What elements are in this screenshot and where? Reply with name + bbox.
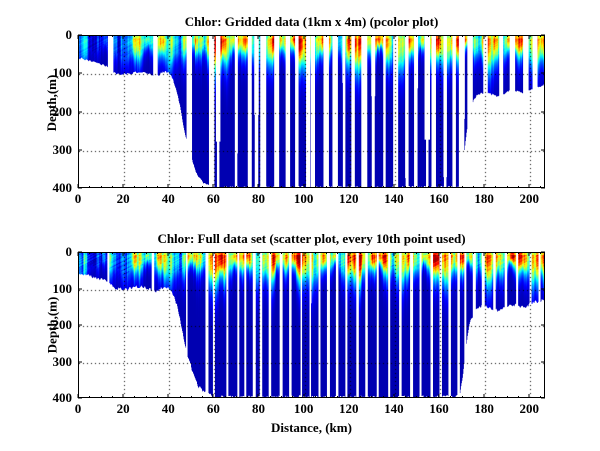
x-axis-tick [258, 394, 259, 398]
chart-panel-gridded: Chlor: Gridded data (1km x 4m) (pcolor p… [78, 35, 545, 188]
x-axis-minor-tick [462, 186, 463, 188]
x-axis-minor-tick [157, 396, 158, 398]
x-axis-tick-label: 200 [519, 401, 539, 417]
x-axis-tick [213, 35, 214, 39]
x-axis-minor-tick [383, 252, 384, 254]
x-axis-tick [258, 184, 259, 188]
y-axis-tick [78, 325, 82, 326]
x-axis-minor-tick [450, 186, 451, 188]
x-axis-minor-tick [101, 396, 102, 398]
x-axis-tick-label: 200 [519, 191, 539, 207]
x-axis-minor-tick [270, 186, 271, 188]
x-axis-tick [123, 394, 124, 398]
x-axis-minor-tick [134, 252, 135, 254]
x-axis-tick-label: 160 [429, 401, 449, 417]
figure-canvas: Chlor: Gridded data (1km x 4m) (pcolor p… [0, 0, 600, 451]
x-axis-minor-tick [236, 186, 237, 188]
x-axis-tick [348, 394, 349, 398]
x-axis-tick-label: 0 [75, 401, 82, 417]
x-axis-tick [484, 252, 485, 256]
x-axis-minor-tick [383, 396, 384, 398]
x-axis-minor-tick [134, 35, 135, 37]
x-axis-minor-tick [89, 396, 90, 398]
x-axis-minor-tick [507, 186, 508, 188]
y-axis-tick [78, 111, 82, 112]
x-axis-minor-tick [89, 252, 90, 254]
x-axis-tick [123, 184, 124, 188]
x-axis-minor-tick [326, 396, 327, 398]
grid-overlay [79, 253, 545, 398]
x-axis-minor-tick [157, 252, 158, 254]
x-axis-minor-tick [281, 35, 282, 37]
y-axis-tick [78, 252, 82, 253]
x-axis-minor-tick [202, 35, 203, 37]
x-axis-tick-label: 140 [384, 191, 404, 207]
x-axis-minor-tick [405, 186, 406, 188]
x-axis-tick [438, 35, 439, 39]
x-axis-minor-tick [518, 186, 519, 188]
x-axis-tick [393, 252, 394, 256]
x-axis-minor-tick [450, 396, 451, 398]
x-axis-minor-tick [202, 396, 203, 398]
x-axis-tick-label: 80 [252, 191, 265, 207]
x-axis-minor-tick [462, 35, 463, 37]
y-axis-label-gridded: Depth,(m) [44, 53, 60, 153]
y-axis-tick [541, 288, 545, 289]
x-axis-tick [168, 35, 169, 39]
x-axis-minor-tick [112, 35, 113, 37]
x-axis-minor-tick [191, 396, 192, 398]
x-axis-minor-tick [383, 35, 384, 37]
x-axis-tick-label: 60 [207, 191, 220, 207]
y-axis-tick [78, 188, 82, 189]
x-axis-minor-tick [89, 35, 90, 37]
y-axis-tick [541, 188, 545, 189]
x-axis-minor-tick [89, 186, 90, 188]
x-axis-tick [348, 35, 349, 39]
y-axis-tick [541, 111, 545, 112]
x-axis-tick [303, 252, 304, 256]
x-axis-minor-tick [191, 186, 192, 188]
y-axis-tick-label: 100 [53, 281, 73, 297]
x-axis-minor-tick [180, 396, 181, 398]
x-axis-tick-label: 60 [207, 401, 220, 417]
plot-area-gridded [78, 35, 545, 188]
y-axis-tick [78, 288, 82, 289]
x-axis-tick [484, 184, 485, 188]
x-axis-minor-tick [495, 186, 496, 188]
y-axis-tick-label: 300 [53, 354, 73, 370]
x-axis-minor-tick [371, 35, 372, 37]
x-axis-minor-tick [473, 252, 474, 254]
x-axis-minor-tick [405, 252, 406, 254]
x-axis-minor-tick [416, 186, 417, 188]
x-axis-minor-tick [371, 396, 372, 398]
x-axis-tick [123, 35, 124, 39]
x-axis-tick [168, 184, 169, 188]
x-axis-minor-tick [337, 252, 338, 254]
x-axis-minor-tick [326, 252, 327, 254]
x-axis-minor-tick [405, 396, 406, 398]
x-axis-tick-label: 20 [117, 401, 130, 417]
x-axis-minor-tick [292, 252, 293, 254]
x-axis-minor-tick [146, 252, 147, 254]
x-axis-minor-tick [360, 252, 361, 254]
x-axis-minor-tick [337, 35, 338, 37]
x-axis-minor-tick [112, 186, 113, 188]
x-axis-minor-tick [428, 396, 429, 398]
x-axis-tick [168, 252, 169, 256]
x-axis-minor-tick [236, 252, 237, 254]
x-axis-minor-tick [180, 35, 181, 37]
x-axis-minor-tick [360, 35, 361, 37]
x-axis-minor-tick [247, 252, 248, 254]
x-axis-minor-tick [315, 186, 316, 188]
x-axis-minor-tick [518, 396, 519, 398]
x-axis-minor-tick [281, 396, 282, 398]
x-axis-minor-tick [371, 252, 372, 254]
x-axis-tick [213, 184, 214, 188]
x-axis-tick-label: 40 [162, 191, 175, 207]
x-axis-tick-label: 160 [429, 191, 449, 207]
y-axis-label-scatter: Depth,(m) [44, 297, 60, 354]
y-axis-tick [78, 35, 82, 36]
x-axis-minor-tick [405, 35, 406, 37]
x-axis-minor-tick [495, 396, 496, 398]
y-axis-tick-label: 0 [66, 244, 73, 260]
x-axis-tick-label: 180 [474, 191, 494, 207]
x-axis-minor-tick [101, 186, 102, 188]
x-axis-minor-tick [371, 186, 372, 188]
y-axis-tick [541, 35, 545, 36]
x-axis-tick [348, 184, 349, 188]
x-axis-minor-tick [101, 252, 102, 254]
x-axis-minor-tick [247, 186, 248, 188]
x-axis-minor-tick [383, 186, 384, 188]
x-axis-tick-label: 100 [294, 191, 314, 207]
x-axis-minor-tick [495, 252, 496, 254]
x-axis-tick [213, 252, 214, 256]
x-axis-tick [438, 184, 439, 188]
x-axis-minor-tick [236, 35, 237, 37]
y-axis-tick [541, 149, 545, 150]
y-axis-tick [78, 149, 82, 150]
y-axis-tick [541, 398, 545, 399]
x-axis-minor-tick [180, 186, 181, 188]
x-axis-tick [393, 35, 394, 39]
x-axis-minor-tick [112, 252, 113, 254]
x-axis-tick [303, 35, 304, 39]
x-axis-minor-tick [191, 252, 192, 254]
x-axis-tick [529, 184, 530, 188]
x-axis-tick [168, 394, 169, 398]
x-axis-tick [123, 252, 124, 256]
x-axis-minor-tick [270, 252, 271, 254]
x-axis-minor-tick [462, 252, 463, 254]
y-axis-tick [541, 361, 545, 362]
x-axis-minor-tick [495, 35, 496, 37]
chart-title-gridded: Chlor: Gridded data (1km x 4m) (pcolor p… [78, 14, 545, 30]
x-axis-tick-label: 40 [162, 401, 175, 417]
x-axis-minor-tick [326, 186, 327, 188]
x-axis-tick-label: 120 [339, 191, 359, 207]
x-axis-minor-tick [247, 396, 248, 398]
x-axis-label-distance: Distance, (km) [78, 420, 545, 436]
x-axis-minor-tick [157, 186, 158, 188]
x-axis-minor-tick [360, 396, 361, 398]
x-axis-minor-tick [202, 186, 203, 188]
x-axis-minor-tick [507, 35, 508, 37]
x-axis-tick [393, 394, 394, 398]
x-axis-minor-tick [292, 35, 293, 37]
x-axis-minor-tick [450, 252, 451, 254]
x-axis-tick [529, 394, 530, 398]
x-axis-tick [303, 184, 304, 188]
x-axis-minor-tick [292, 186, 293, 188]
x-axis-minor-tick [292, 396, 293, 398]
x-axis-tick [213, 394, 214, 398]
x-axis-minor-tick [281, 252, 282, 254]
x-axis-tick-label: 80 [252, 401, 265, 417]
x-axis-minor-tick [518, 35, 519, 37]
y-axis-tick [78, 398, 82, 399]
x-axis-minor-tick [134, 396, 135, 398]
x-axis-tick-label: 100 [294, 401, 314, 417]
x-axis-minor-tick [270, 35, 271, 37]
x-axis-tick [258, 252, 259, 256]
x-axis-minor-tick [225, 186, 226, 188]
x-axis-minor-tick [134, 186, 135, 188]
x-axis-tick [78, 252, 79, 256]
y-axis-tick-label: 0 [66, 27, 73, 43]
x-axis-minor-tick [428, 35, 429, 37]
x-axis-minor-tick [247, 35, 248, 37]
x-axis-minor-tick [101, 35, 102, 37]
y-axis-tick [541, 73, 545, 74]
x-axis-minor-tick [157, 35, 158, 37]
x-axis-minor-tick [507, 396, 508, 398]
x-axis-minor-tick [416, 252, 417, 254]
x-axis-tick-label: 20 [117, 191, 130, 207]
x-axis-tick [303, 394, 304, 398]
x-axis-minor-tick [146, 186, 147, 188]
x-axis-minor-tick [315, 35, 316, 37]
x-axis-tick [348, 252, 349, 256]
y-axis-tick [541, 325, 545, 326]
chart-panel-scatter: Chlor: Full data set (scatter plot, ever… [78, 252, 545, 398]
chart-title-scatter: Chlor: Full data set (scatter plot, ever… [78, 231, 545, 247]
x-axis-minor-tick [416, 35, 417, 37]
y-axis-tick [541, 252, 545, 253]
x-axis-minor-tick [337, 186, 338, 188]
x-axis-tick [393, 184, 394, 188]
x-axis-minor-tick [416, 396, 417, 398]
x-axis-tick-label: 120 [339, 401, 359, 417]
x-axis-minor-tick [180, 252, 181, 254]
x-axis-minor-tick [360, 186, 361, 188]
x-axis-tick [78, 35, 79, 39]
x-axis-tick [529, 252, 530, 256]
x-axis-tick [258, 35, 259, 39]
x-axis-minor-tick [225, 396, 226, 398]
x-axis-minor-tick [473, 186, 474, 188]
x-axis-tick-label: 180 [474, 401, 494, 417]
x-axis-tick-label: 0 [75, 191, 82, 207]
x-axis-minor-tick [315, 252, 316, 254]
y-axis-tick [78, 361, 82, 362]
plot-area-scatter [78, 252, 545, 398]
x-axis-tick [484, 394, 485, 398]
x-axis-tick [484, 35, 485, 39]
x-axis-minor-tick [191, 35, 192, 37]
x-axis-minor-tick [507, 252, 508, 254]
y-axis-tick-label: 400 [53, 390, 73, 406]
x-axis-minor-tick [225, 35, 226, 37]
y-axis-tick-label: 400 [53, 180, 73, 196]
x-axis-minor-tick [281, 186, 282, 188]
x-axis-minor-tick [473, 35, 474, 37]
x-axis-minor-tick [146, 396, 147, 398]
x-axis-minor-tick [225, 252, 226, 254]
x-axis-minor-tick [428, 252, 429, 254]
x-axis-minor-tick [202, 252, 203, 254]
x-axis-minor-tick [315, 396, 316, 398]
x-axis-minor-tick [462, 396, 463, 398]
x-axis-minor-tick [236, 396, 237, 398]
x-axis-minor-tick [473, 396, 474, 398]
x-axis-minor-tick [326, 35, 327, 37]
grid-overlay [79, 36, 545, 188]
x-axis-minor-tick [518, 252, 519, 254]
x-axis-minor-tick [112, 396, 113, 398]
x-axis-minor-tick [270, 396, 271, 398]
x-axis-minor-tick [337, 396, 338, 398]
y-axis-tick [78, 73, 82, 74]
x-axis-tick-label: 140 [384, 401, 404, 417]
x-axis-minor-tick [450, 35, 451, 37]
x-axis-tick [438, 394, 439, 398]
x-axis-tick [529, 35, 530, 39]
x-axis-tick [438, 252, 439, 256]
x-axis-minor-tick [146, 35, 147, 37]
x-axis-minor-tick [428, 186, 429, 188]
